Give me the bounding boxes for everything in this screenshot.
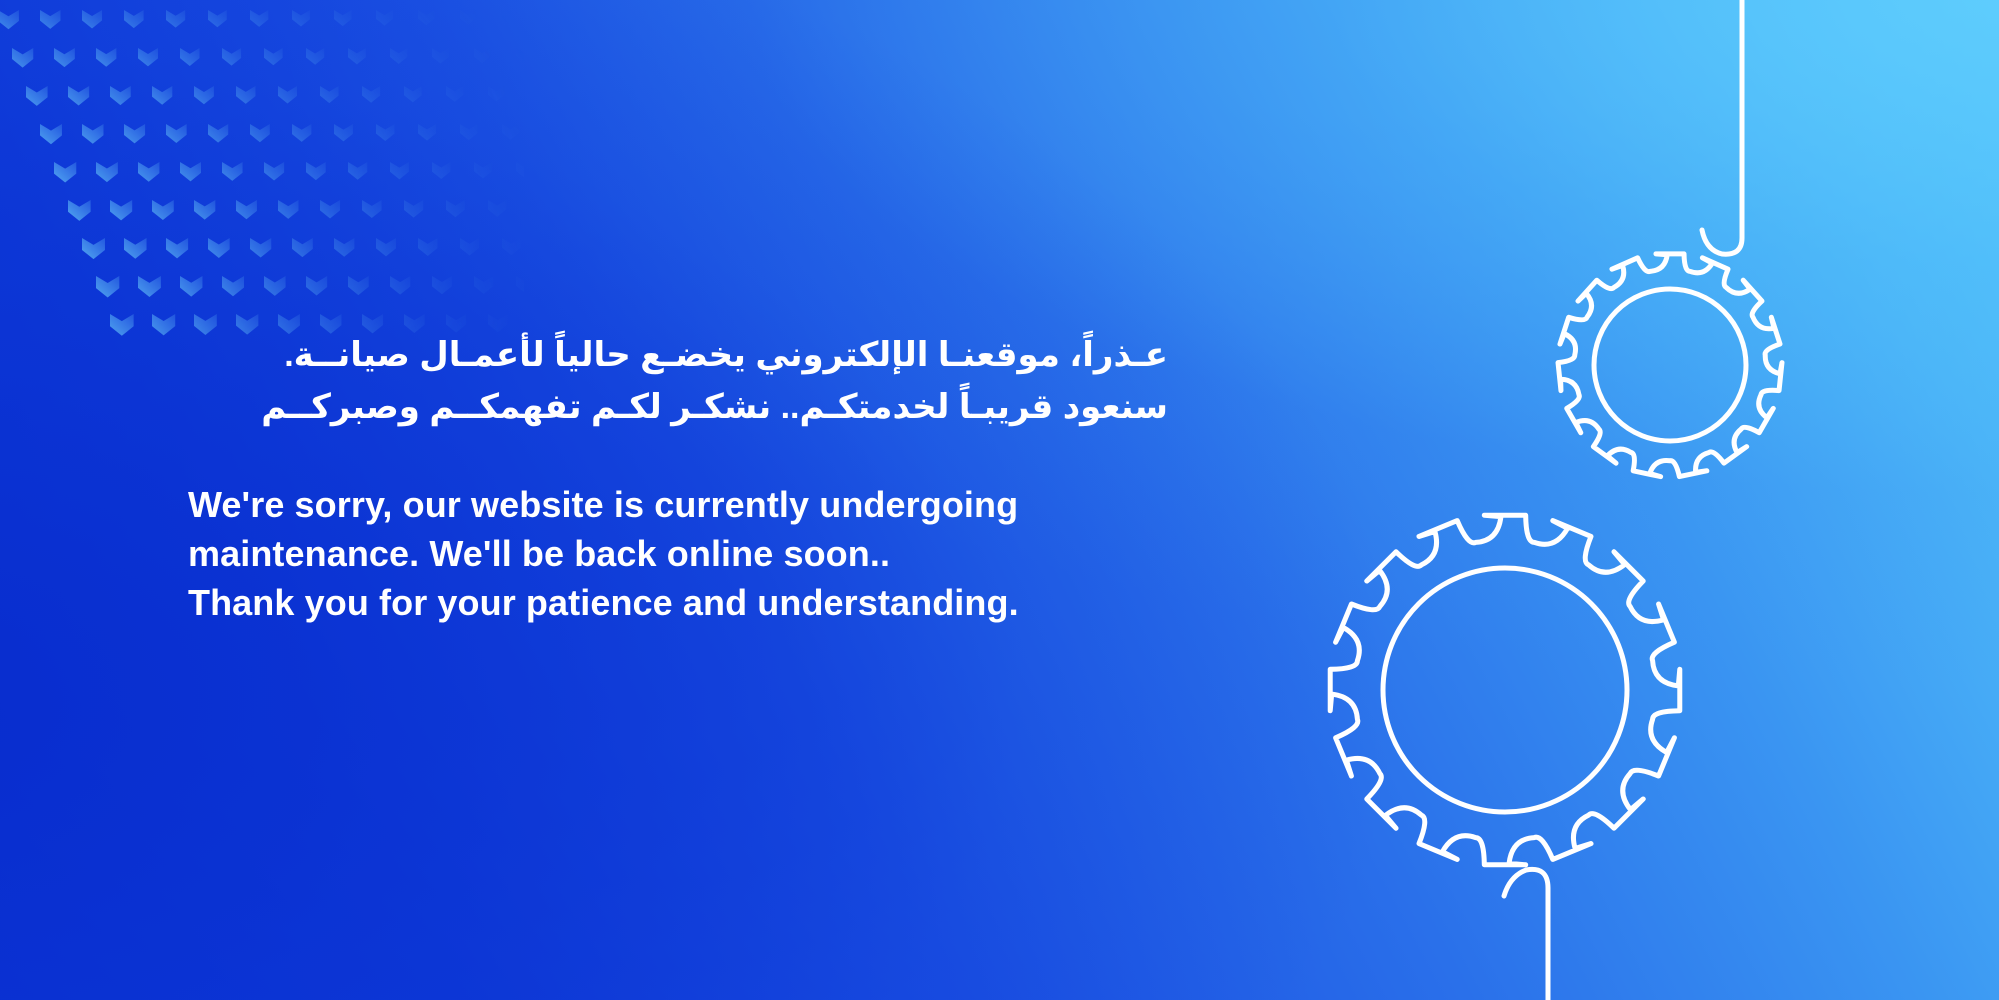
maintenance-page: عـذراً، موقعنـا الإلكتروني يخضـع حالياً … [0,0,1999,1000]
maintenance-message: عـذراً، موقعنـا الإلكتروني يخضـع حالياً … [188,330,1168,628]
arabic-line-1: عـذراً، موقعنـا الإلكتروني يخضـع حالياً … [188,330,1168,382]
english-line-2: maintenance. We'll be back online soon.. [188,530,1168,579]
arabic-line-2: سنعود قريبـاً لخدمتكـم.. نشكـر لكـم تفهم… [188,382,1168,434]
english-line-1: We're sorry, our website is currently un… [188,481,1168,530]
english-message: We're sorry, our website is currently un… [188,481,1168,628]
arabic-message: عـذراً، موقعنـا الإلكتروني يخضـع حالياً … [188,330,1168,433]
english-line-3: Thank you for your patience and understa… [188,579,1168,628]
